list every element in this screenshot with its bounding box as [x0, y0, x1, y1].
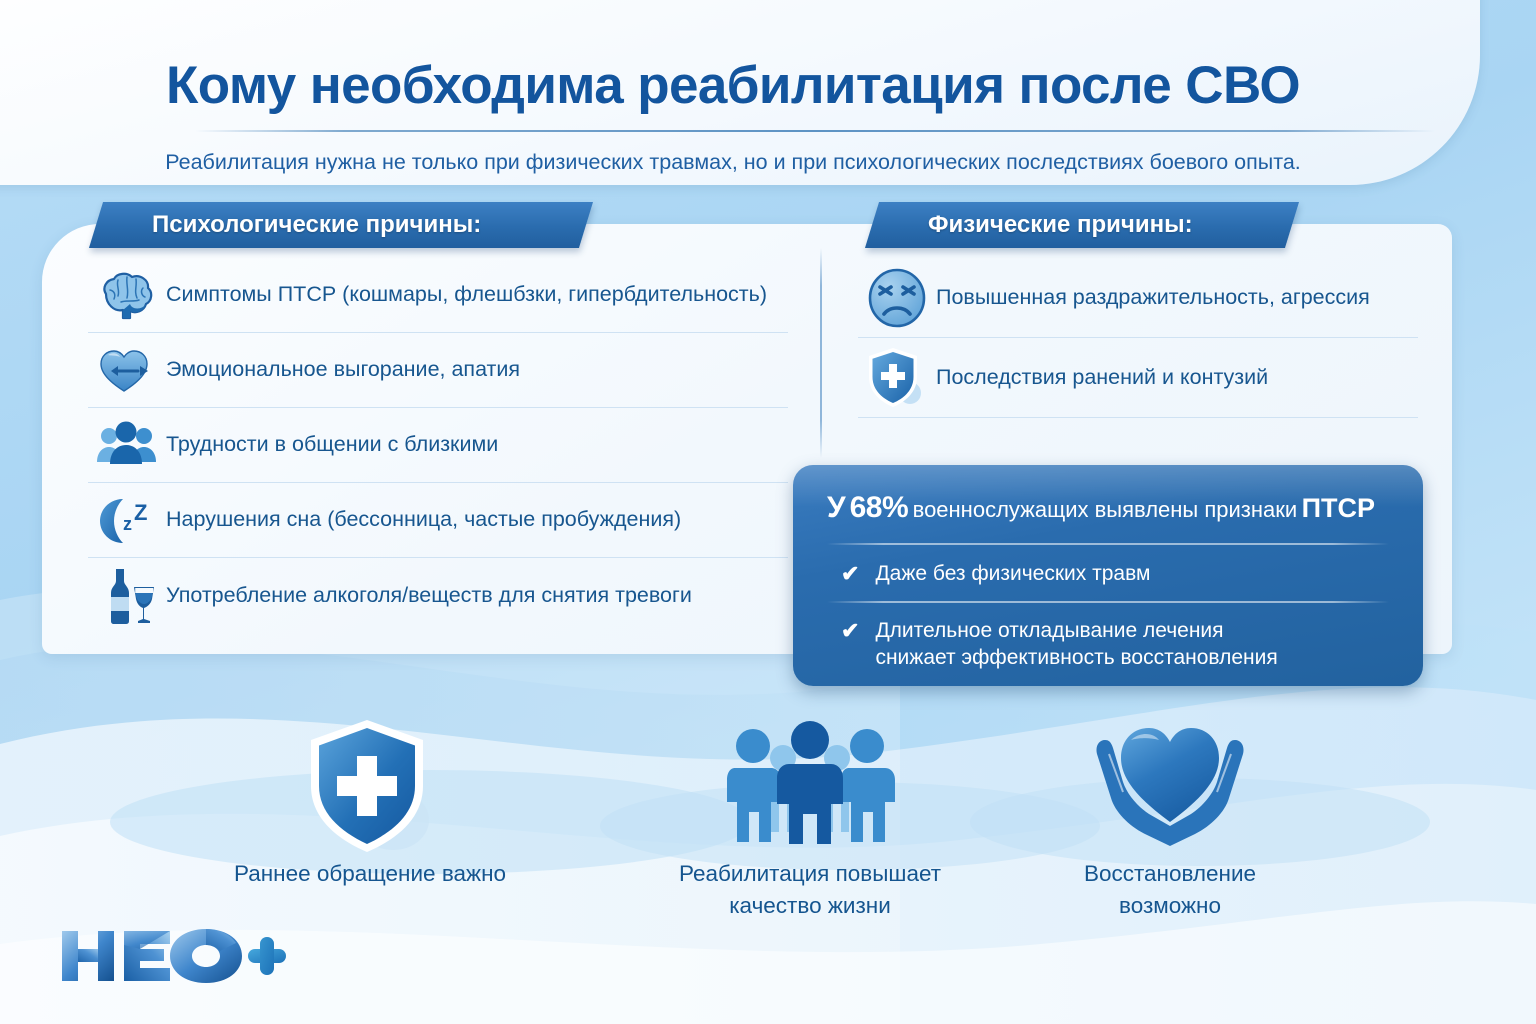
- list-item[interactable]: Повышенная раздражительность, агрессия: [858, 258, 1418, 338]
- list-item-label: Симптомы ПТСР (кошмары, флешбзки, гиперб…: [166, 282, 767, 308]
- list-item-label: Употребление алкоголя/веществ для снятия…: [166, 583, 692, 609]
- benefit-caption-line2: возможно: [1000, 892, 1340, 920]
- banner-psychological: Психологические причины:: [89, 202, 593, 248]
- list-item-label: Повышенная раздражительность, агрессия: [936, 285, 1370, 311]
- list-item[interactable]: z Z Нарушения сна (бессонница, частые пр…: [88, 483, 788, 558]
- list-item[interactable]: Употребление алкоголя/веществ для снятия…: [88, 558, 788, 633]
- banner-psychological-label: Психологические причины:: [96, 202, 586, 248]
- svg-text:z: z: [123, 514, 132, 534]
- angry-face-icon: [858, 267, 936, 329]
- heart-burnout-icon: [88, 345, 166, 395]
- list-item[interactable]: Симптомы ПТСР (кошмары, флешбзки, гиперб…: [88, 258, 788, 333]
- title-divider: [195, 130, 1435, 132]
- stat-headline-prefix: У: [827, 491, 845, 524]
- bottom-benefits: Раннее обращение важно: [0, 706, 1536, 946]
- banner-physical-label: Физические причины:: [872, 202, 1292, 248]
- brain-icon: [88, 270, 166, 320]
- stat-bullet: ✔ Даже без физических травм: [841, 560, 1150, 588]
- benefit-caption-line1: Реабилитация повышает: [640, 860, 980, 888]
- stat-bullet-text: Длительное откладывание лечения снижает …: [875, 617, 1277, 672]
- stat-bullet: ✔ Длительное откладывание лечения снижае…: [841, 617, 1278, 672]
- stat-divider-2: [827, 601, 1389, 603]
- stat-headline-middle: военнослужащих выявлены признаки: [913, 497, 1298, 522]
- benefit-item: Восстановление возможно: [1000, 706, 1340, 920]
- column-divider: [820, 248, 822, 458]
- benefit-caption-line1: Восстановление: [1000, 860, 1340, 888]
- list-item[interactable]: Эмоциональное выгорание, апатия: [88, 333, 788, 408]
- benefit-caption-line1: Раннее обращение важно: [200, 860, 540, 888]
- list-item-label: Нарушения сна (бессонница, частые пробуж…: [166, 507, 681, 533]
- stat-bullet-line2: снижает эффективность восстановления: [875, 646, 1277, 669]
- stat-bullet-text: Даже без физических травм: [875, 560, 1150, 587]
- check-icon: ✔: [841, 617, 859, 645]
- list-item-label: Трудности в общении с близкими: [166, 432, 498, 458]
- svg-text:Z: Z: [134, 500, 147, 525]
- banner-physical: Физические причины:: [865, 202, 1299, 248]
- list-item-label: Эмоциональное выгорание, апатия: [166, 357, 520, 383]
- stat-headline: У 68% военнослужащих выявлены признаки П…: [827, 491, 1375, 525]
- stat-bullet-line1: Длительное откладывание лечения: [875, 619, 1223, 642]
- stat-divider-1: [827, 543, 1389, 545]
- infographic-canvas: Кому необходима реабилитация после СВО Р…: [0, 0, 1536, 1024]
- people-group-icon: [88, 420, 166, 470]
- hands-heart-icon: [1000, 706, 1340, 856]
- logo[interactable]: [58, 925, 288, 987]
- stat-headline-tail: ПТСР: [1302, 493, 1375, 523]
- stat-headline-value: 68%: [850, 491, 909, 524]
- benefit-item: Раннее обращение важно: [200, 706, 540, 892]
- bottle-glass-icon: [88, 565, 166, 627]
- benefit-caption-line2: качество жизни: [640, 892, 980, 920]
- moon-sleep-icon: z Z: [88, 494, 166, 546]
- list-item-label: Последствия ранений и контузий: [936, 365, 1268, 391]
- physical-causes-list: Повышенная раздражительность, агрессия П…: [858, 258, 1418, 418]
- shield-cross-icon: [858, 345, 936, 411]
- benefit-item: Реабилитация повышает качество жизни: [640, 706, 980, 920]
- list-item[interactable]: Последствия ранений и контузий: [858, 338, 1418, 418]
- stat-panel: У 68% военнослужащих выявлены признаки П…: [793, 465, 1423, 686]
- page-subtitle: Реабилитация нужна не только при физичес…: [0, 150, 1466, 175]
- psychological-causes-list: Симптомы ПТСР (кошмары, флешбзки, гиперб…: [88, 258, 788, 633]
- page-title: Кому необходима реабилитация после СВО: [0, 55, 1466, 116]
- list-item[interactable]: Трудности в общении с близкими: [88, 408, 788, 483]
- people-team-icon: [640, 706, 980, 856]
- shield-cross-icon: [200, 706, 540, 856]
- check-icon: ✔: [841, 560, 859, 588]
